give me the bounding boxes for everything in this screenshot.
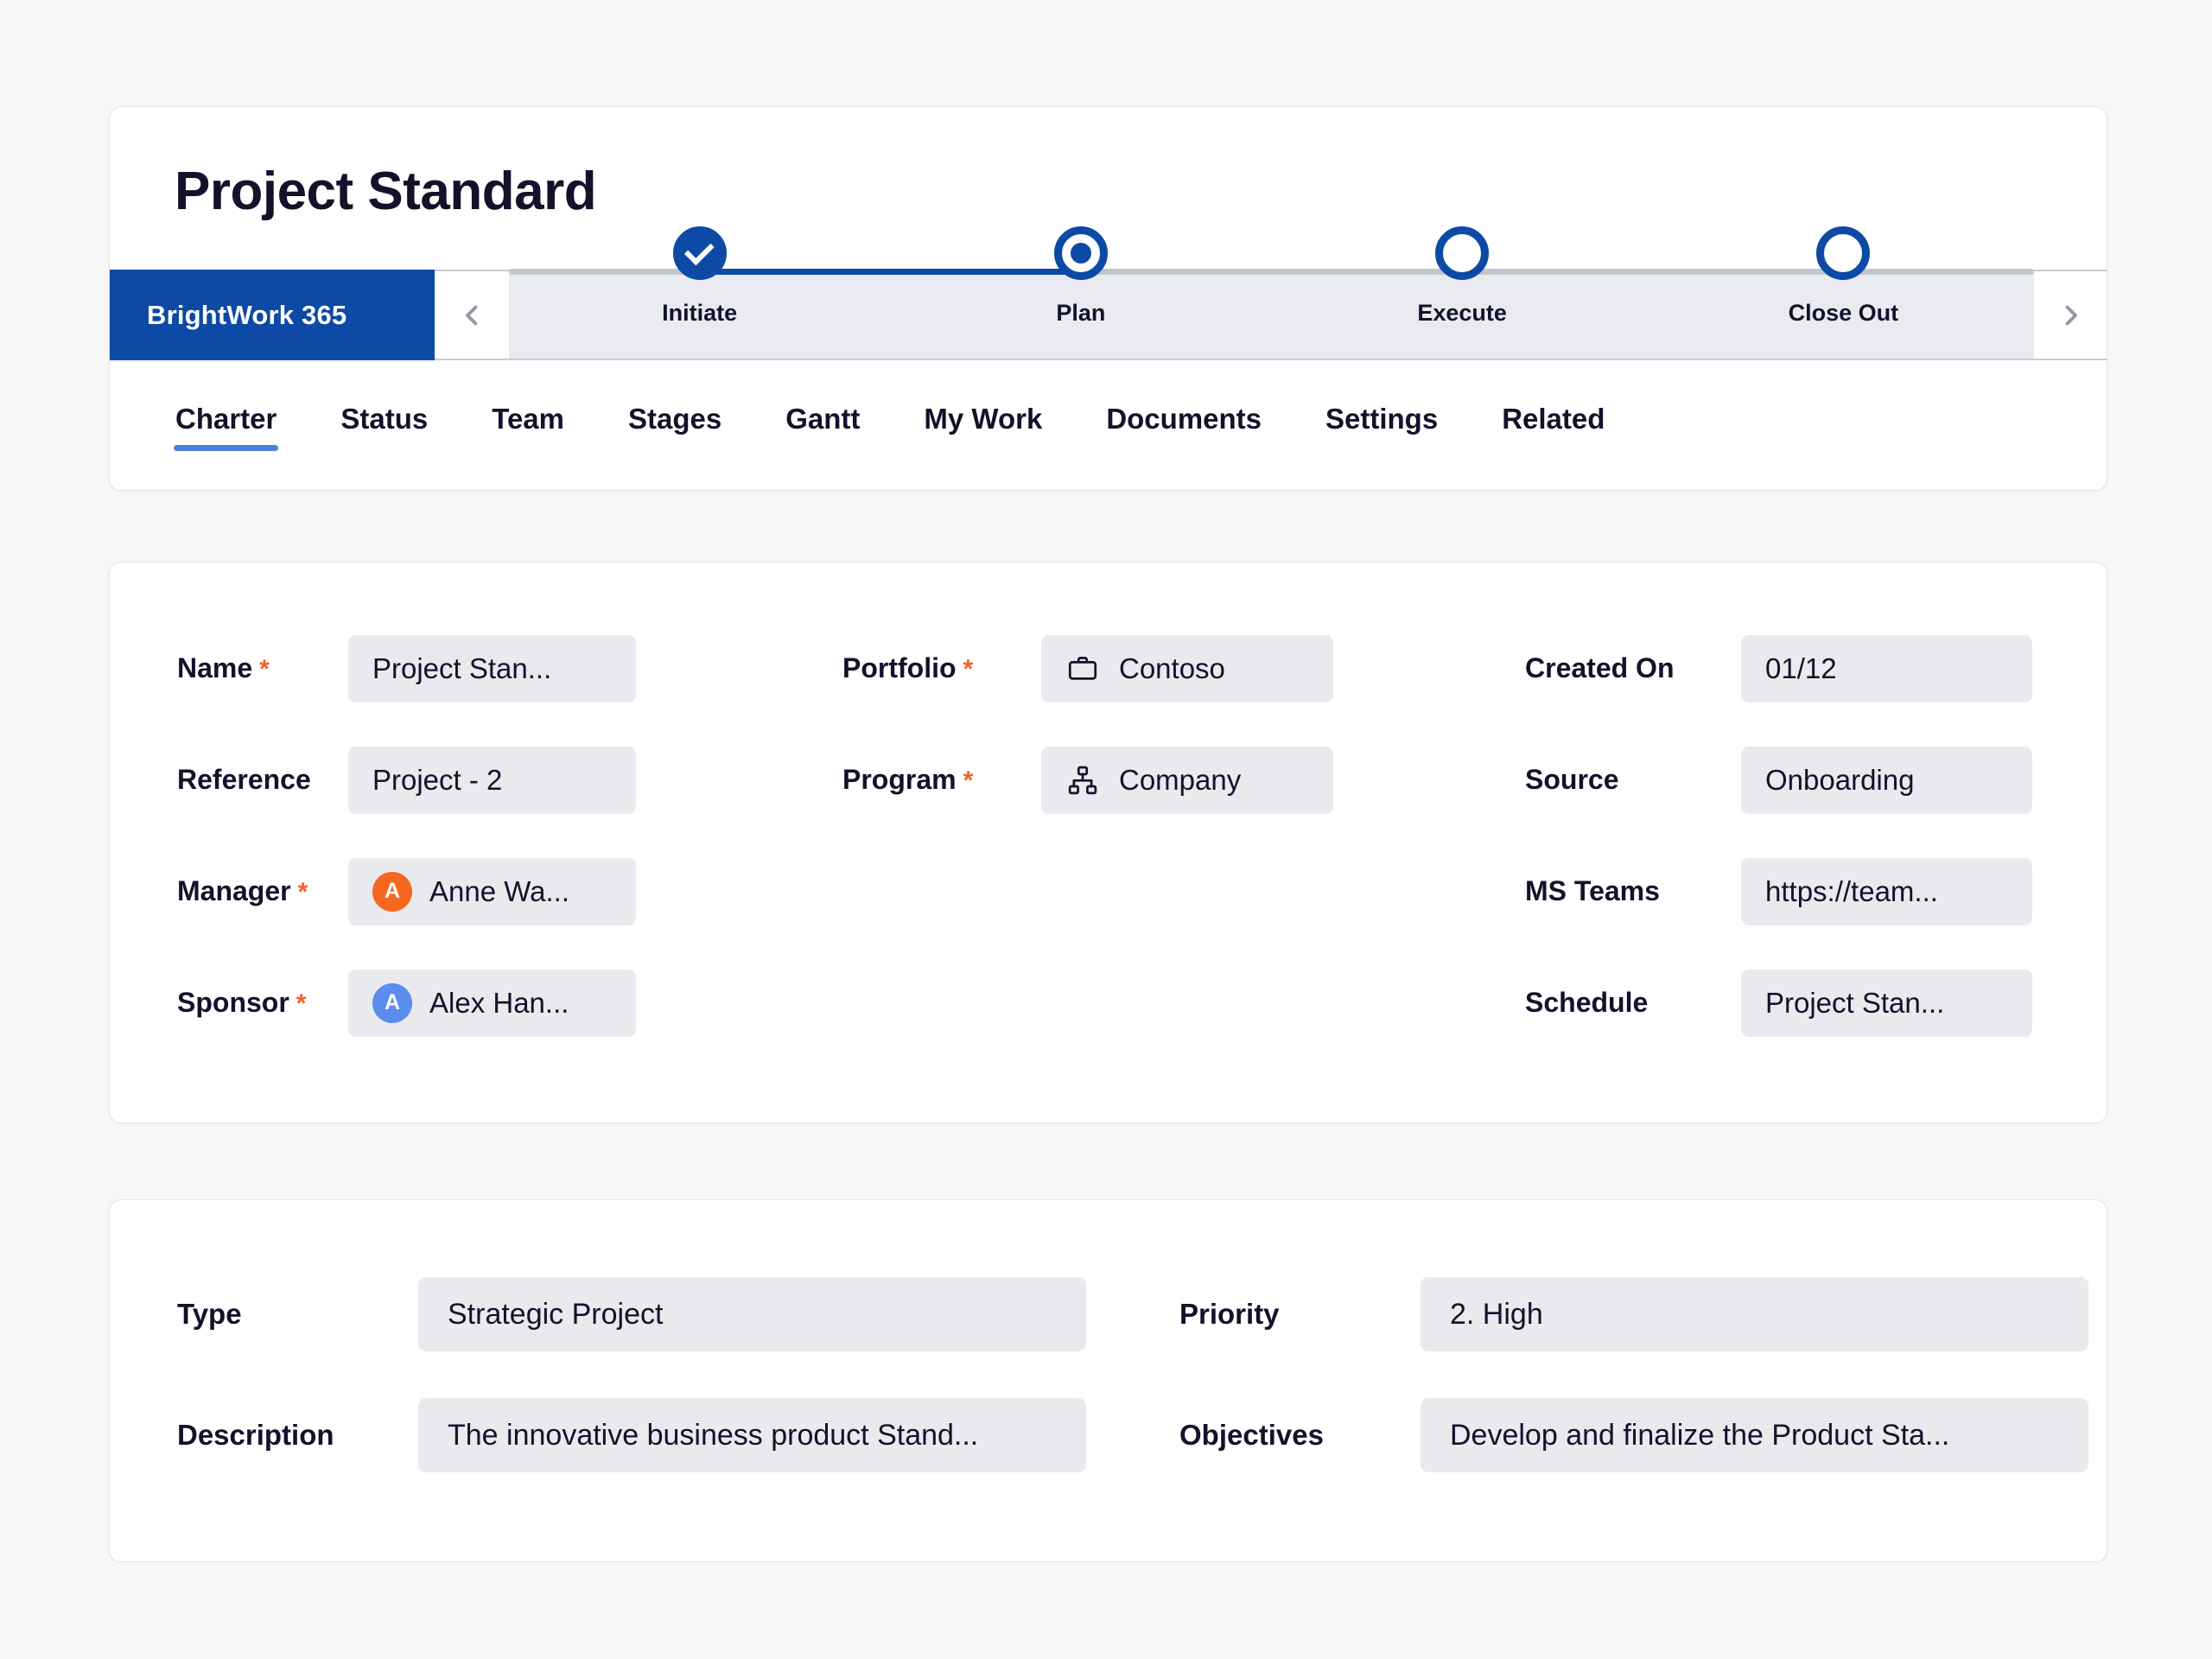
field-value[interactable]: Company <box>1041 747 1333 814</box>
field-label: Description <box>177 1419 418 1452</box>
field-label: Type <box>177 1298 418 1331</box>
stage-current-icon[interactable] <box>1054 226 1108 280</box>
tab-gantt[interactable]: Gantt <box>779 397 867 454</box>
field-label: Manager* <box>177 875 348 907</box>
field-label: MS Teams <box>1525 875 1741 907</box>
field-row: TypeStrategic Project <box>177 1254 1112 1375</box>
field-value-text: Project Stan... <box>1765 987 1944 1020</box>
business-process-stage-bar: BrightWork 365 InitiatePlanExecuteClose … <box>110 270 2107 360</box>
field-value[interactable]: Project Stan... <box>348 635 636 702</box>
field-label: Created On <box>1525 652 1741 684</box>
org-chart-icon-wrap <box>1065 763 1100 798</box>
required-asterisk: * <box>963 766 974 795</box>
stage-execute[interactable]: Execute <box>1350 271 1574 359</box>
briefcase-icon-wrap <box>1065 652 1100 686</box>
stage-label: Plan <box>969 300 1193 327</box>
previous-stage-button[interactable] <box>435 270 509 360</box>
stage-close-out[interactable]: Close Out <box>1731 271 1955 359</box>
tab-charter[interactable]: Charter <box>168 397 283 454</box>
field-value[interactable]: Project - 2 <box>348 747 636 814</box>
extra-column-right: Priority2. HighObjectivesDevelop and fin… <box>1112 1254 2108 1561</box>
stage-empty-icon[interactable] <box>1816 226 1870 280</box>
chevron-left-icon <box>459 302 485 328</box>
required-asterisk: * <box>259 655 270 683</box>
field-label: Priority <box>1179 1298 1421 1331</box>
field-value[interactable]: https://team... <box>1741 858 2032 925</box>
field-row: Portfolio*Contoso <box>842 613 1458 724</box>
avatar: A <box>372 872 412 912</box>
field-label: Sponsor* <box>177 987 348 1019</box>
field-row: Priority2. High <box>1179 1254 2108 1375</box>
field-value-text: 01/12 <box>1765 652 1837 685</box>
stage-plan[interactable]: Plan <box>969 271 1193 359</box>
org-chart-icon <box>1066 764 1099 797</box>
field-label: Reference <box>177 764 348 796</box>
required-asterisk: * <box>296 989 307 1018</box>
field-value-text: Onboarding <box>1765 764 1914 797</box>
field-row: SourceOnboarding <box>1525 724 2108 836</box>
tab-my-work[interactable]: My Work <box>917 397 1049 454</box>
field-row: Name*Project Stan... <box>177 613 775 724</box>
field-row: MS Teamshttps://team... <box>1525 836 2108 947</box>
field-value-text: Project - 2 <box>372 764 502 797</box>
field-value[interactable]: 2. High <box>1421 1277 2088 1351</box>
stage-label: Close Out <box>1731 300 1955 327</box>
briefcase-icon <box>1066 652 1099 685</box>
field-value-text: Company <box>1119 764 1241 797</box>
stage-empty-icon[interactable] <box>1435 226 1489 280</box>
field-row: Program*Company <box>842 724 1458 836</box>
field-value-text: Alex Han... <box>429 987 569 1020</box>
field-value[interactable]: Strategic Project <box>418 1277 1086 1351</box>
field-value[interactable]: Contoso <box>1041 635 1333 702</box>
field-value-text: https://team... <box>1765 875 1938 908</box>
tab-bar: CharterStatusTeamStagesGanttMy WorkDocum… <box>110 360 2107 491</box>
project-extra-card: TypeStrategic ProjectDescriptionThe inno… <box>109 1199 2107 1562</box>
field-label: Program* <box>842 764 1041 796</box>
field-value-text: Contoso <box>1119 652 1225 685</box>
field-label: Objectives <box>1179 1419 1421 1452</box>
field-row: DescriptionThe innovative business produ… <box>177 1375 1112 1496</box>
field-label: Portfolio* <box>842 652 1041 684</box>
next-stage-button[interactable] <box>2034 270 2107 360</box>
field-label: Source <box>1525 764 1741 796</box>
field-value[interactable]: 01/12 <box>1741 635 2032 702</box>
field-row: ReferenceProject - 2 <box>177 724 775 836</box>
stage-track: InitiatePlanExecuteClose Out <box>509 270 2034 360</box>
required-asterisk: * <box>963 655 974 683</box>
field-value[interactable]: AAlex Han... <box>348 969 636 1037</box>
brand-label: BrightWork 365 <box>147 300 346 331</box>
tab-documents[interactable]: Documents <box>1099 397 1268 454</box>
field-value-text: Anne Wa... <box>429 875 569 908</box>
tab-status[interactable]: Status <box>334 397 435 454</box>
field-value-text: Project Stan... <box>372 652 551 685</box>
extra-column-left: TypeStrategic ProjectDescriptionThe inno… <box>110 1254 1112 1561</box>
stage-initiate[interactable]: Initiate <box>588 271 812 359</box>
stage-label: Initiate <box>588 300 812 327</box>
details-column-1: Name*Project Stan...ReferenceProject - 2… <box>110 613 775 1122</box>
field-label: Name* <box>177 652 348 684</box>
field-row: Manager*AAnne Wa... <box>177 836 775 947</box>
tab-related[interactable]: Related <box>1495 397 1611 454</box>
field-value[interactable]: Project Stan... <box>1741 969 2032 1037</box>
field-row: Sponsor*AAlex Han... <box>177 947 775 1058</box>
chevron-right-icon <box>2058 302 2084 328</box>
details-column-2: Portfolio*ContosoProgram*Company <box>775 613 1458 1122</box>
page-title: Project Standard <box>175 161 596 222</box>
field-row: ScheduleProject Stan... <box>1525 947 2108 1058</box>
required-asterisk: * <box>298 878 308 906</box>
tab-team[interactable]: Team <box>485 397 571 454</box>
stage-check-icon[interactable] <box>673 226 727 280</box>
field-value[interactable]: The innovative business product Stand... <box>418 1398 1086 1472</box>
field-value[interactable]: AAnne Wa... <box>348 858 636 925</box>
details-column-3: Created On01/12SourceOnboardingMS Teamsh… <box>1458 613 2108 1122</box>
project-header-card: Project Standard BrightWork 365 Initiate… <box>109 106 2107 491</box>
field-label: Schedule <box>1525 987 1741 1019</box>
avatar: A <box>372 983 412 1023</box>
tab-settings[interactable]: Settings <box>1319 397 1445 454</box>
project-details-card: Name*Project Stan...ReferenceProject - 2… <box>109 562 2107 1123</box>
field-value[interactable]: Develop and finalize the Product Sta... <box>1421 1398 2088 1472</box>
app-root: Project Standard BrightWork 365 Initiate… <box>0 0 2212 1659</box>
brand-chip[interactable]: BrightWork 365 <box>110 270 435 360</box>
field-row: Created On01/12 <box>1525 613 2108 724</box>
tab-stages[interactable]: Stages <box>621 397 728 454</box>
field-value[interactable]: Onboarding <box>1741 747 2032 814</box>
stage-label: Execute <box>1350 300 1574 327</box>
field-row: ObjectivesDevelop and finalize the Produ… <box>1179 1375 2108 1496</box>
